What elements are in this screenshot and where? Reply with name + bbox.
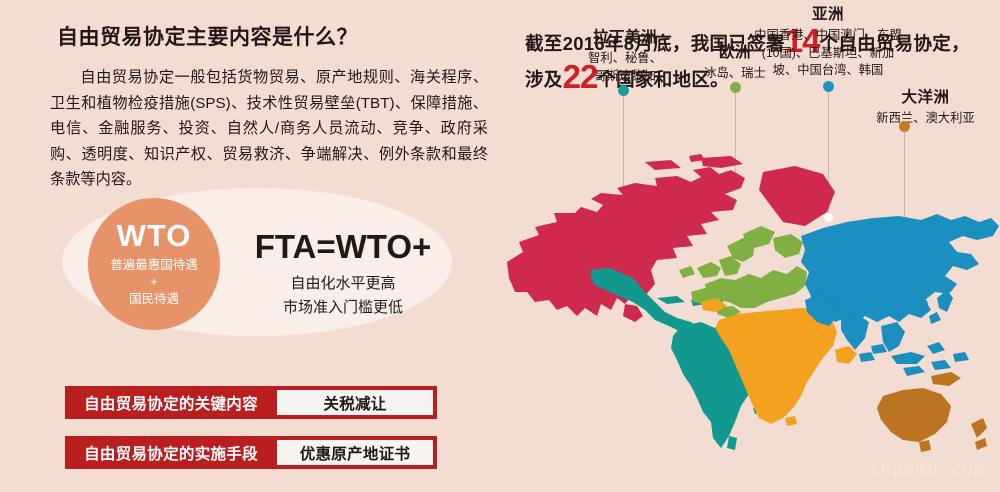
fta-title: FTA=WTO+: [238, 230, 448, 265]
callout-asia: 亚洲 中国香港、中国澳门、东盟(10国)、巴基斯坦、新加坡、中国台湾、韩国: [753, 5, 903, 80]
key-content-value: 关税减让: [277, 390, 433, 415]
watermark: shpemu.com: [869, 460, 986, 480]
headline-seg-3: 涉及: [525, 69, 563, 90]
callout-latin-america: 拉丁美洲 智利、秘鲁、哥斯达黎加: [565, 28, 685, 85]
callout-latin-america-detail: 智利、秘鲁、哥斯达黎加: [565, 50, 685, 85]
implementation-label: 自由贸易协定的实施手段: [65, 436, 277, 469]
callout-oceania-title: 大洋洲: [853, 88, 998, 108]
callout-latin-america-title: 拉丁美洲: [565, 28, 685, 48]
wto-subtitle: 普遍最惠国待遇+国民待遇: [110, 257, 198, 308]
wto-title: WTO: [117, 220, 192, 251]
right-panel: 截至2016年8月底，我国已签署14个自由贸易协定， 涉及22个国家和地区。 拉…: [505, 0, 1000, 492]
connector-dot-europe: [730, 82, 741, 93]
fta-benefits: 自由化水平更高 市场准入门槛更低: [238, 272, 448, 320]
fta-benefit-2: 市场准入门槛更低: [238, 296, 448, 320]
map-region-asia: [801, 214, 999, 376]
callout-asia-detail: 中国香港、中国澳门、东盟(10国)、巴基斯坦、新加坡、中国台湾、韩国: [753, 27, 903, 80]
key-content-label: 自由贸易协定的关键内容: [65, 386, 277, 419]
implementation-bar: 自由贸易协定的实施手段 优惠原产地证书: [65, 436, 437, 469]
key-content-bar: 自由贸易协定的关键内容 关税减让: [65, 386, 437, 419]
callout-oceania: 大洋洲 新西兰、澳大利亚: [853, 88, 998, 128]
page-title: 自由贸易协定主要内容是什么？: [57, 21, 358, 51]
infographic-root: 自由贸易协定主要内容是什么？ 自由贸易协定一般包括货物贸易、原产地规则、海关程序…: [0, 0, 1000, 492]
left-panel: 自由贸易协定主要内容是什么？ 自由贸易协定一般包括货物贸易、原产地规则、海关程序…: [0, 0, 505, 492]
fta-benefit-1: 自由化水平更高: [238, 272, 448, 296]
body-paragraph: 自由贸易协定一般包括货物贸易、原产地规则、海关程序、卫生和植物检疫措施(SPS)…: [50, 65, 488, 193]
wto-circle: WTO 普遍最惠国待遇+国民待遇: [88, 198, 220, 330]
fta-formula-block: FTA=WTO+ 自由化水平更高 市场准入门槛更低: [238, 230, 448, 320]
callout-oceania-detail: 新西兰、澳大利亚: [853, 110, 998, 128]
connector-dot-asia: [823, 81, 834, 92]
callout-asia-title: 亚洲: [753, 5, 903, 25]
map-region-oceania: [877, 372, 987, 452]
implementation-value: 优惠原产地证书: [277, 440, 433, 465]
world-map: [505, 150, 1000, 492]
connector-dot-oceania: [899, 121, 910, 132]
connector-dot-latin-america: [618, 85, 629, 96]
